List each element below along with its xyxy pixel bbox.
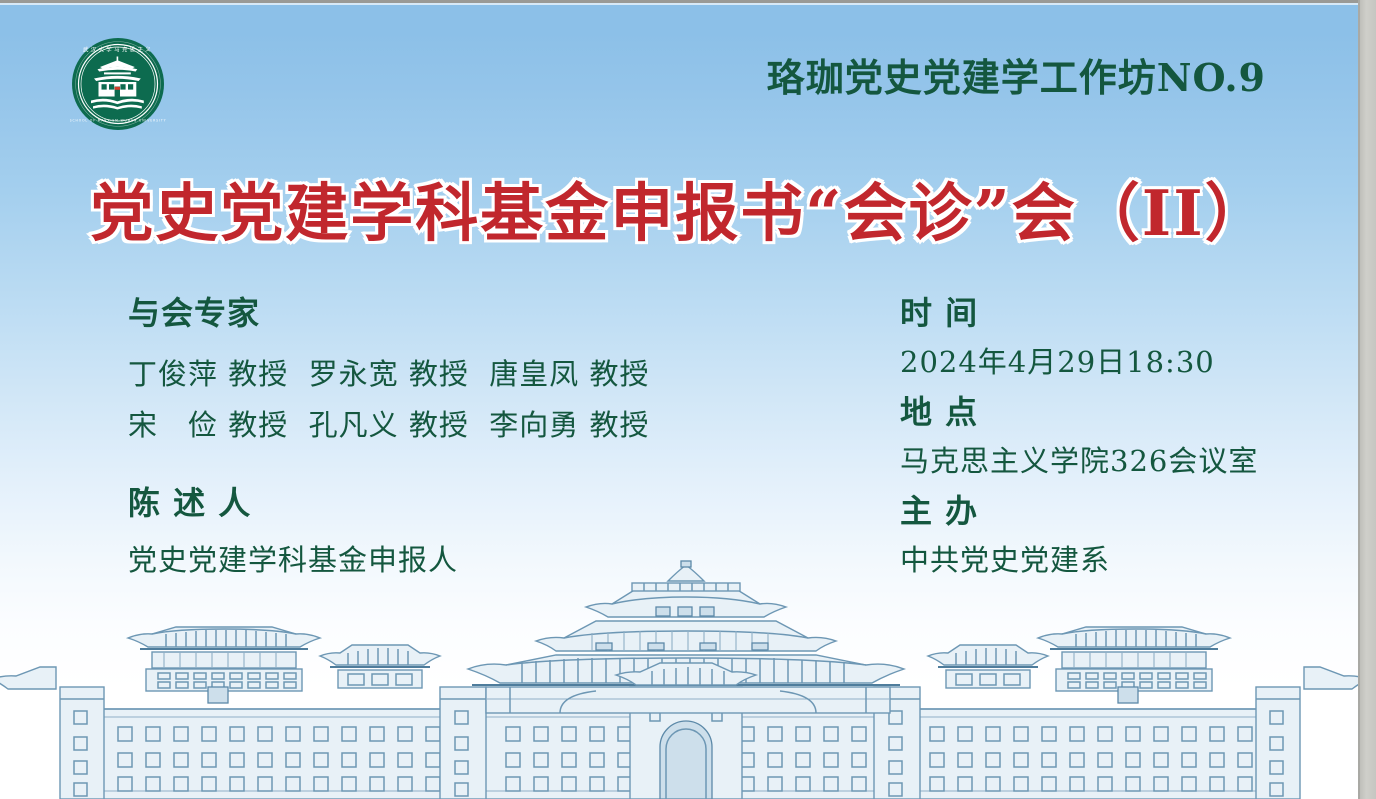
experts-line-2: 宋 俭 教授 孔凡义 教授 李向勇 教授 [128, 402, 650, 449]
host-value: 中共党史党建系 [900, 537, 1258, 584]
presenter-label: 陈 述 人 [128, 483, 650, 523]
presenter-value: 党史党建学科基金申报人 [128, 537, 650, 584]
top-border-highlight [0, 3, 1360, 5]
old-library-building-illustration: .ln { fill:none; stroke:#6d97b4; stroke-… [0, 559, 1360, 799]
experts-line-1: 丁俊萍 教授 罗永宽 教授 唐皇凤 教授 [128, 351, 650, 398]
svg-text:SCHOOL OF MARXISM WUHAN UNIVER: SCHOOL OF MARXISM WUHAN UNIVERSITY [70, 119, 166, 123]
place-label: 地 点 [900, 392, 1258, 432]
place-value: 马克思主义学院326会议室 [900, 438, 1258, 485]
svg-text:武汉大学马克思主义: 武汉大学马克思主义 [83, 46, 153, 54]
experts-label: 与会专家 [128, 293, 650, 333]
workshop-series-label: 珞珈党史党建学工作坊NO.9 [767, 47, 1266, 102]
university-emblem-logo: 武汉大学马克思主义 SCHOOL OF MARXISM WUHAN UNIVER… [70, 36, 166, 132]
host-label: 主 办 [900, 491, 1258, 531]
poster-title: 党史党建学科基金申报书“会诊”会（II） [0, 163, 1360, 254]
time-value: 2024年4月29日18:30 [900, 339, 1258, 386]
page-right-gutter [1360, 0, 1376, 799]
time-label: 时 间 [900, 293, 1258, 333]
right-info-column: 时 间 2024年4月29日18:30 地 点 马克思主义学院326会议室 主 … [900, 293, 1258, 584]
poster-root: 武汉大学马克思主义 SCHOOL OF MARXISM WUHAN UNIVER… [0, 0, 1376, 799]
poster-canvas: 武汉大学马克思主义 SCHOOL OF MARXISM WUHAN UNIVER… [0, 0, 1360, 799]
left-info-column: 与会专家 丁俊萍 教授 罗永宽 教授 唐皇凤 教授 宋 俭 教授 孔凡义 教授 … [128, 293, 650, 584]
